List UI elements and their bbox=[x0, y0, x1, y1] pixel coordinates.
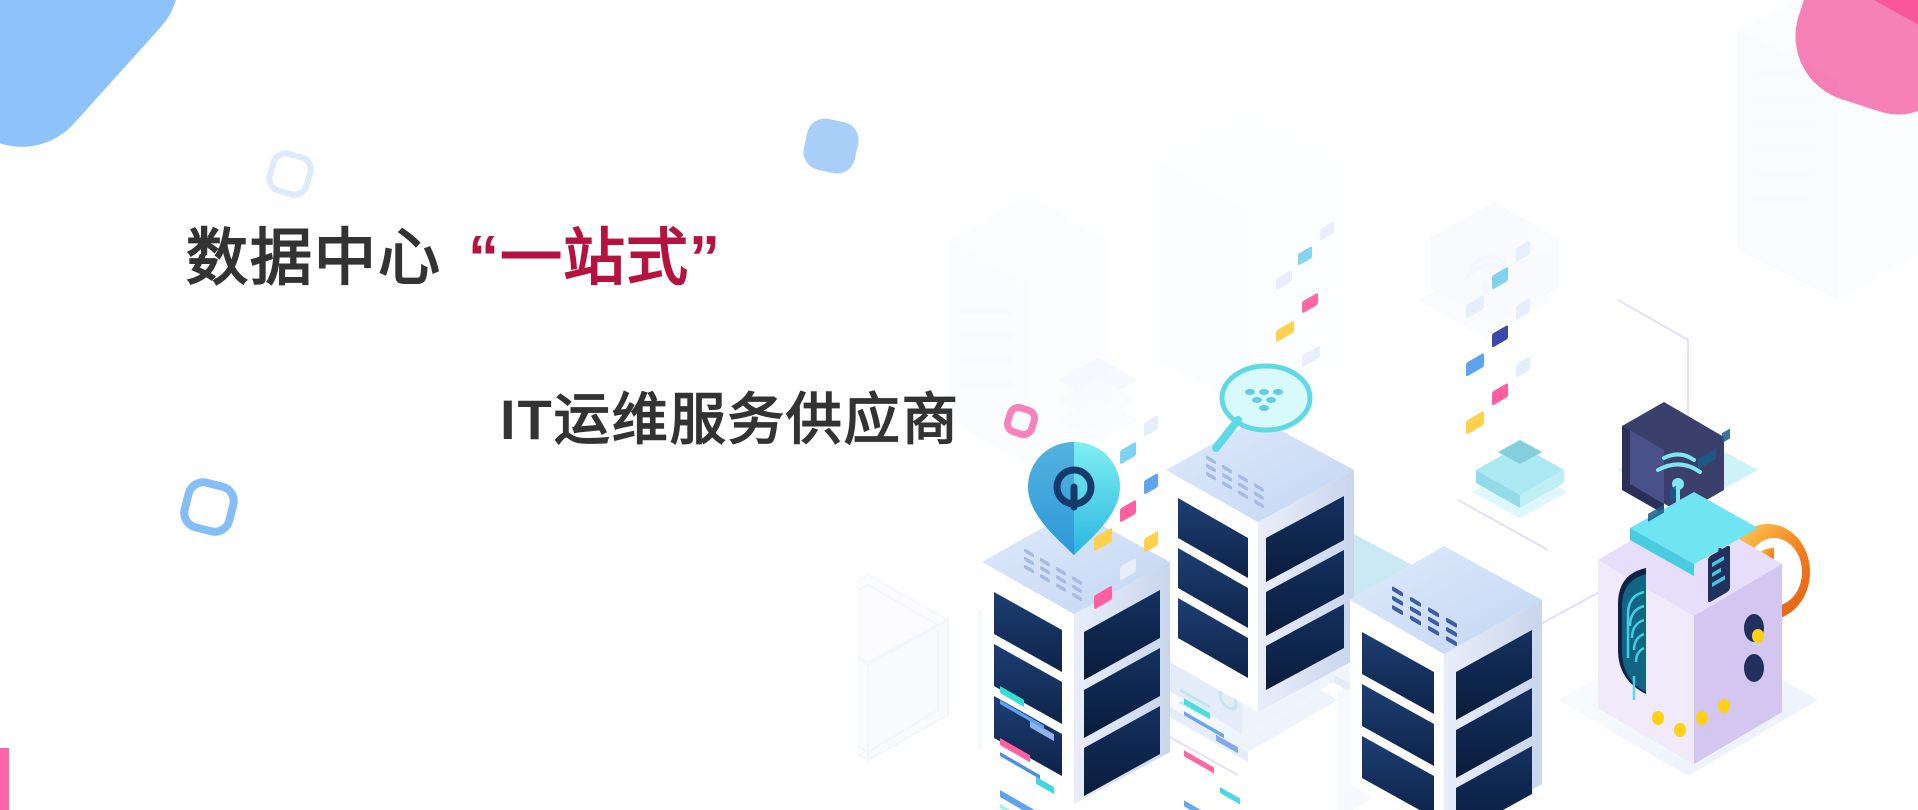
location-pin-icon bbox=[1028, 442, 1120, 555]
orange-ring-icon bbox=[1726, 524, 1810, 620]
banner-root: 数据中心“一站式” IT运维服务供应商 bbox=[0, 0, 1918, 810]
indicator-lights bbox=[1652, 629, 1764, 737]
faded-wifi-monitor-icon bbox=[1418, 202, 1558, 338]
server-rack-front-right bbox=[1338, 240, 1542, 810]
magnifier-icon bbox=[1216, 366, 1310, 448]
blob-top-right bbox=[1778, 0, 1918, 130]
headline-line-2: IT运维服务供应商 bbox=[500, 392, 1066, 448]
headline-line-1: 数据中心“一站式” bbox=[186, 228, 1066, 290]
server-rack-front-left bbox=[978, 415, 1170, 810]
faded-background-cabinets bbox=[948, 0, 1918, 465]
tablet-wifi-icon bbox=[1618, 402, 1758, 514]
connection-lines bbox=[1028, 300, 1688, 775]
monitor-left-icon bbox=[1154, 578, 1338, 810]
biometric-cabinet bbox=[1558, 429, 1818, 776]
headline-prefix: 数据中心 bbox=[186, 224, 442, 293]
square-filled-blue-icon bbox=[800, 115, 862, 177]
monitor-right-icon bbox=[1288, 302, 1428, 696]
headline-accent: “一站式” bbox=[468, 224, 721, 293]
faded-layers-icon bbox=[1058, 358, 1138, 442]
stacked-layers-icon bbox=[1472, 440, 1568, 518]
pink-edge-bar bbox=[0, 748, 9, 810]
blob-top-left bbox=[0, 0, 208, 176]
headline-block: 数据中心“一站式” IT运维服务供应商 bbox=[186, 228, 1066, 448]
server-rack-back-center bbox=[1166, 221, 1354, 810]
square-outline-pale-blue-icon bbox=[263, 147, 317, 201]
wireframe-cube bbox=[858, 575, 948, 760]
square-outline-blue-icon bbox=[176, 474, 241, 539]
